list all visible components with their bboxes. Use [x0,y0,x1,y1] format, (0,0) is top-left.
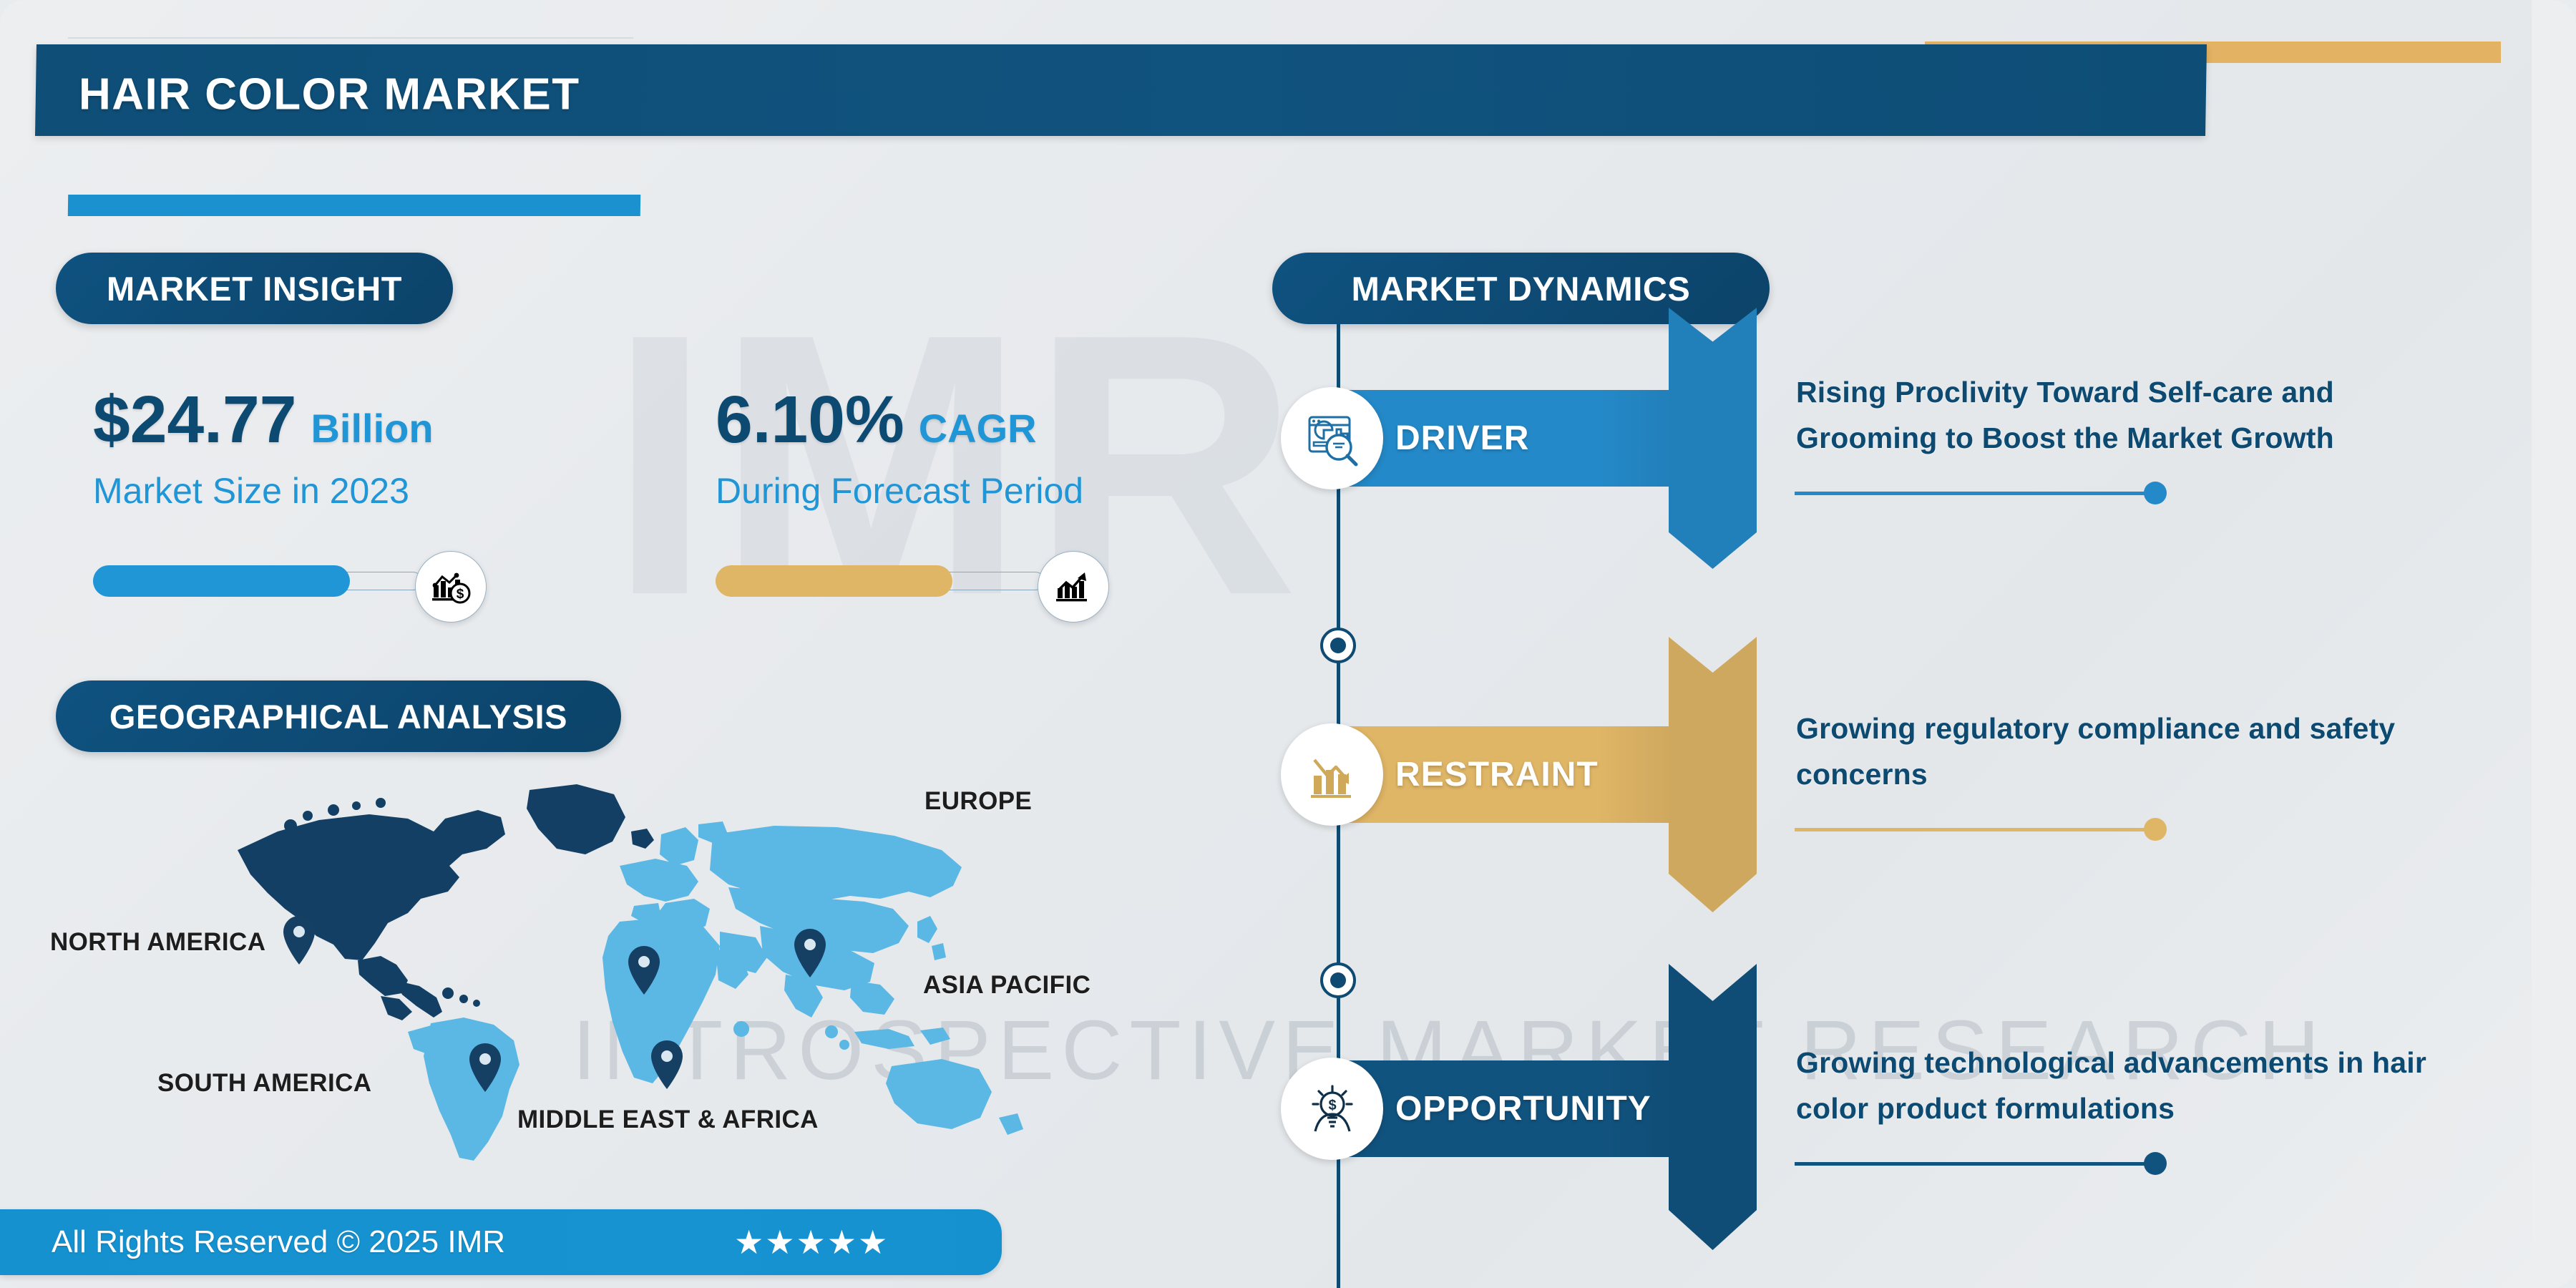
footer-bar: All Rights Reserved © 2025 IMR ★★★★★ [0,1209,1002,1275]
map-label-europe: EUROPE [924,787,1032,816]
opportunity-text: Growing technological advancements in ha… [1796,1040,2483,1131]
driver-label: DRIVER [1395,390,1529,487]
growth-arrow-icon [1038,551,1109,623]
driver-text: Rising Proclivity Toward Self-care and G… [1796,370,2483,461]
copyright-text: All Rights Reserved © 2025 IMR [52,1224,505,1260]
cagr-unit: CAGR [919,409,1037,449]
timeline-node-1 [1320,628,1356,663]
opportunity-connector-knob [2144,1152,2167,1175]
declining-chart-icon [1281,723,1383,826]
opportunity-label: OPPORTUNITY [1395,1060,1652,1157]
driver-connector-line [1795,492,2156,495]
stat-market-size: $24.77 Billion Market Size in 2023 [93,386,434,512]
market-dynamics-heading: MARKET DYNAMICS [1272,253,1770,324]
map-label-south-america: SOUTH AMERICA [157,1069,371,1098]
bar-chart-dollar-icon: $ [415,551,487,623]
market-size-value: $24.77 [93,386,296,453]
rating-stars-icon: ★★★★★ [734,1223,889,1262]
progress-fill [93,565,350,597]
timeline-node-2 [1320,962,1356,998]
market-insight-heading: MARKET INSIGHT [56,253,453,324]
right-margin [2532,0,2576,1288]
restraint-connector-line [1795,828,2156,831]
restraint-text: Growing regulatory compliance and safety… [1796,706,2483,797]
ribbon-tail [1669,964,1757,1250]
market-size-label: Market Size in 2023 [93,470,434,512]
driver-connector-knob [2144,482,2167,504]
lightbulb-dollar-icon: $ [1281,1058,1383,1160]
svg-text:$: $ [1328,1098,1336,1113]
stat-value-row: 6.10% CAGR [716,386,1083,453]
infographic-canvas: IMR INTROSPECTIVE MARKET RESEARCH HAIR C… [0,0,2576,1288]
map-label-north-america: NORTH AMERICA [50,928,265,957]
restraint-label: RESTRAINT [1395,726,1599,823]
map-shapes [238,784,1023,1161]
progress-fill [716,565,952,597]
map-label-middle-east-africa: MIDDLE EAST & AFRICA [517,1106,819,1134]
geographical-analysis-heading: GEOGRAPHICAL ANALYSIS [56,680,621,752]
map-label-asia-pacific: ASIA PACIFIC [923,971,1091,1000]
restraint-connector-knob [2144,818,2167,841]
opportunity-connector-line [1795,1162,2156,1166]
analytics-search-icon [1281,387,1383,489]
cagr-label: During Forecast Period [716,470,1083,512]
header-underbar [68,195,640,216]
page-title: HAIR COLOR MARKET [79,69,580,120]
ribbon-tail [1669,637,1757,912]
cagr-value: 6.10% [716,386,904,453]
svg-text:$: $ [457,587,464,602]
ribbon-tail [1669,308,1757,569]
top-rule [68,37,633,39]
stat-value-row: $24.77 Billion [93,386,434,453]
market-size-unit: Billion [311,409,433,449]
stat-cagr: 6.10% CAGR During Forecast Period [716,386,1083,512]
